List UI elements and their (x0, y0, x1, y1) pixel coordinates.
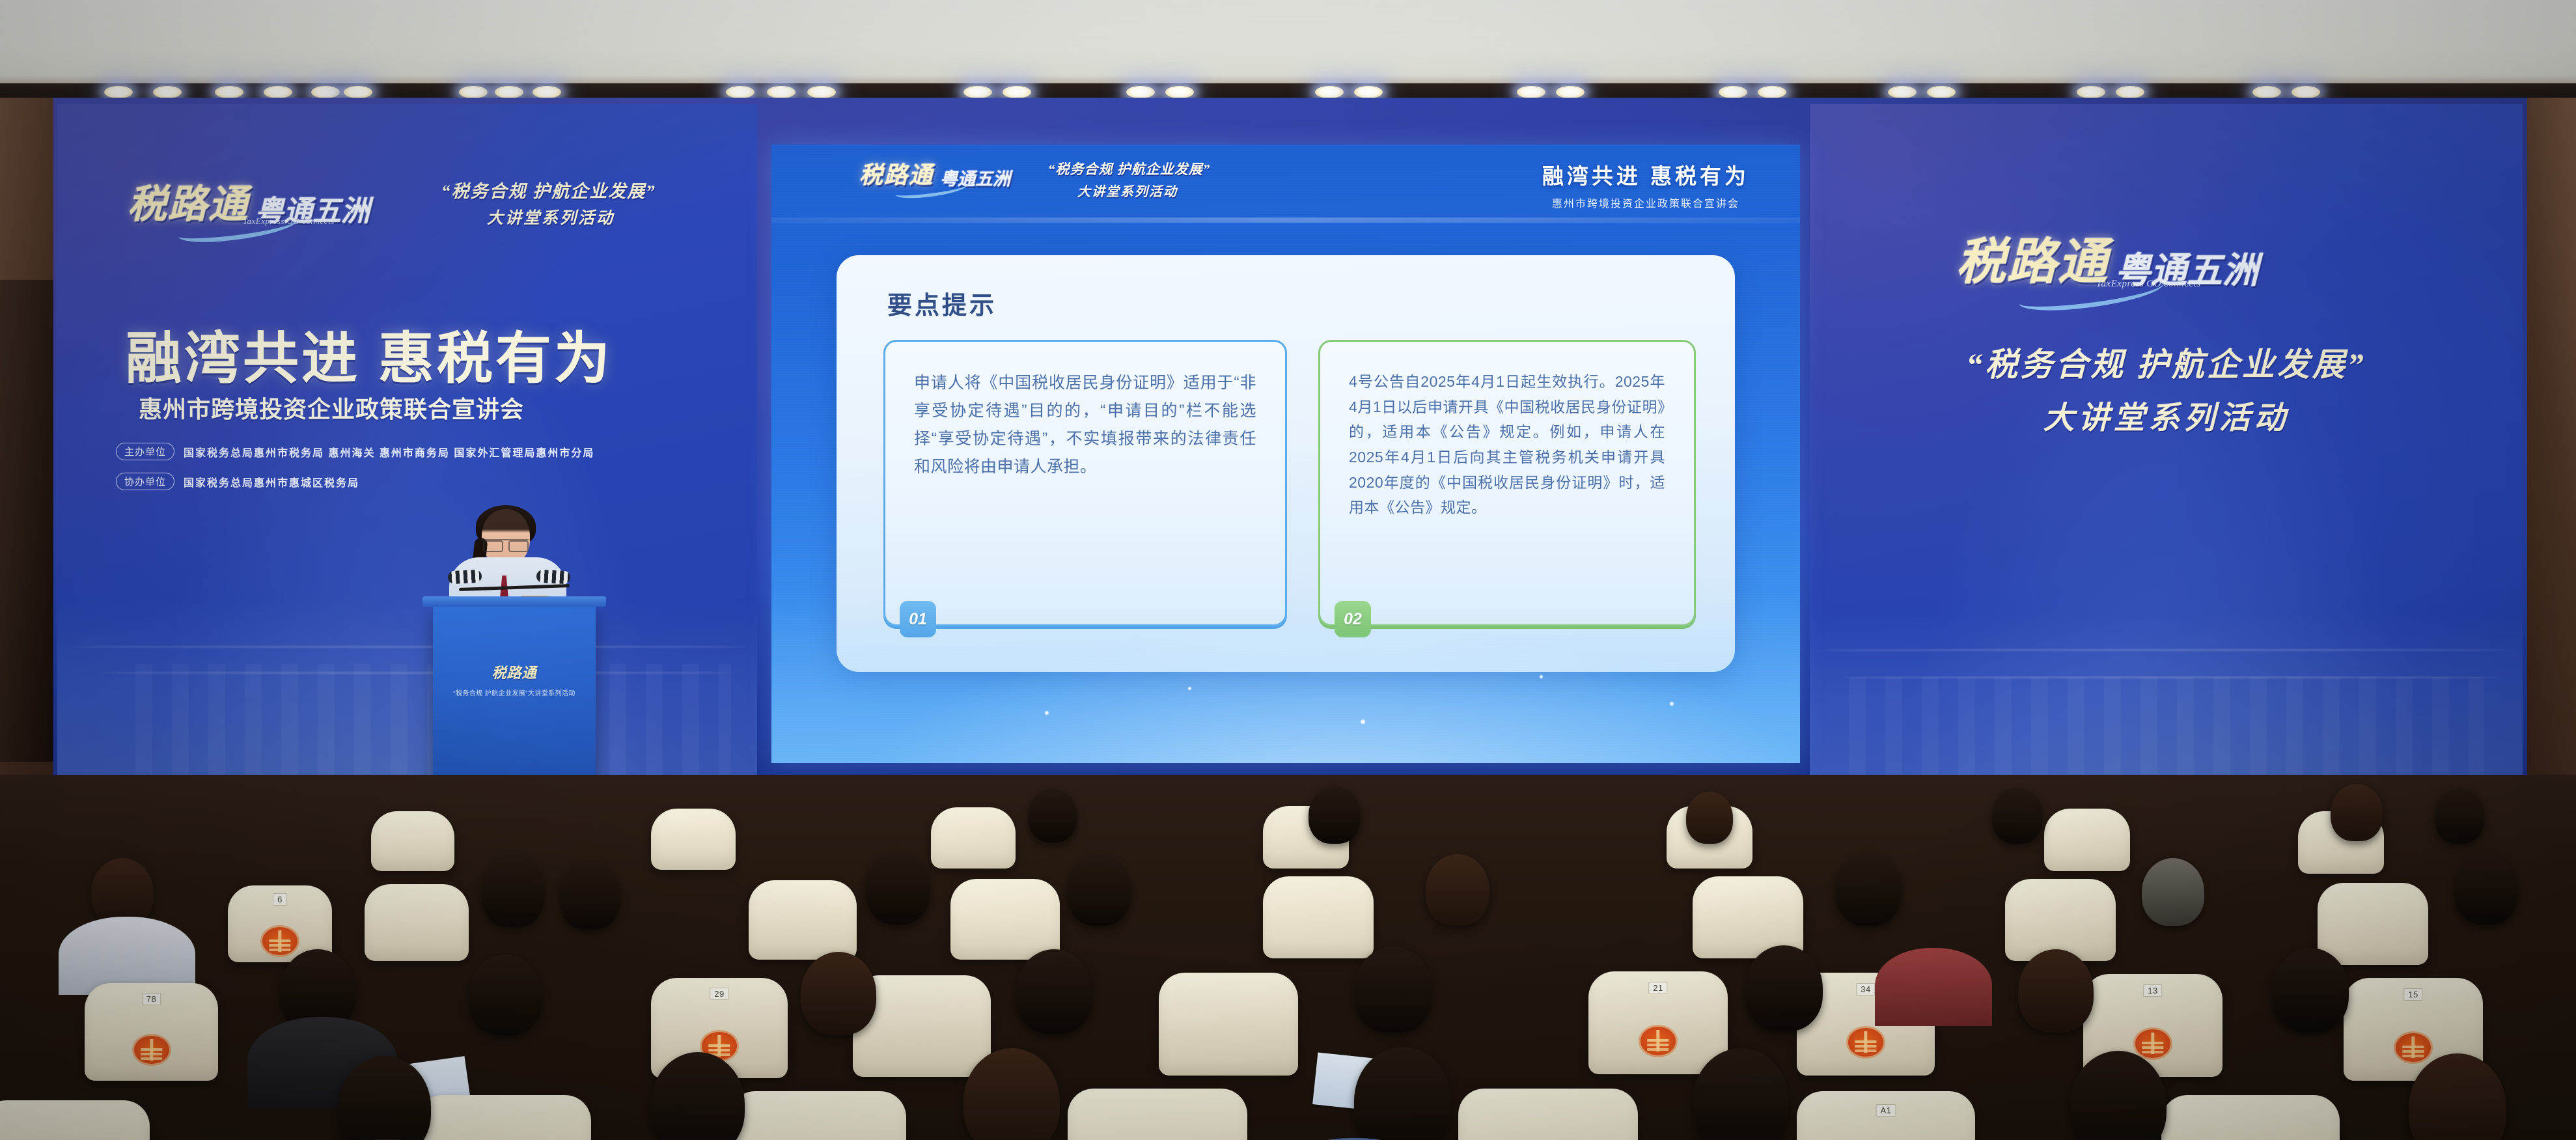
slide-sparkle (1045, 711, 1049, 715)
banner-right: 税路通 粤通五洲 TaxExpress GO connects “税务合规 护航… (1810, 104, 2523, 827)
ceiling-light (2292, 86, 2320, 98)
audience-head (1686, 792, 1733, 844)
ceiling-light (1719, 86, 1747, 98)
ceiling-light (344, 86, 372, 98)
podium-subtext: “税务合规 护航企业发展”大讲堂系列活动 (433, 688, 596, 697)
seat-number: 29 (710, 988, 728, 1000)
banner-left-slogan-line1: “税务合规 护航企业发展” (441, 177, 656, 202)
wave-line (70, 646, 747, 648)
audience-head (1745, 945, 1823, 1031)
speaker-glasses-icon (483, 539, 529, 549)
podium-desktop (422, 596, 606, 607)
ceiling-light (2077, 86, 2105, 98)
slide-header-subtitle: 惠州市跨境投资企业政策联合宣讲会 (1542, 195, 1749, 210)
chair-emblem-icon (262, 927, 298, 955)
audience-head (801, 952, 876, 1035)
banner-left: 税路通 粤通五洲 TaxExpress GO connects “税务合规 护航… (57, 104, 757, 814)
slide-content-card: 要点提示 申请人将《中国税收居民身份证明》适用于“非享受协定待遇”目的的，“申请… (837, 255, 1735, 672)
audience-head (2454, 853, 2518, 925)
audience-head (560, 862, 620, 930)
chair (2318, 883, 2428, 965)
ceiling-light (1517, 86, 1545, 98)
brand-logo-en: TaxExpress GO connects (2096, 279, 2201, 290)
chair (1068, 1089, 1247, 1140)
chair (651, 809, 736, 870)
chair (950, 879, 1060, 960)
podium-logo-cn: 税路通 (492, 665, 536, 681)
chair-emblem-icon (1641, 1027, 1676, 1055)
audience-shoulders (1875, 948, 1992, 1026)
ceiling-light (2116, 86, 2144, 98)
wave-line (1816, 649, 2513, 651)
podium-logo: 税路通 (433, 661, 596, 682)
audience-head (469, 954, 542, 1035)
chair (365, 884, 469, 961)
key-point-box-2: 4号公告自2025年4月1日起生效执行。2025年4月1日以后申请开具《中国税收… (1318, 340, 1696, 626)
organizer-row-main: 主办单位 国家税务总局惠州市税务局 惠州海关 惠州市商务局 国家外汇管理局惠州市… (116, 443, 594, 460)
key-point-badge-1: 01 (900, 601, 936, 637)
audience-head (1354, 947, 1432, 1033)
chair (1159, 973, 1298, 1076)
audience-head (1016, 949, 1092, 1034)
chair (2005, 879, 2116, 961)
ceiling-light (1354, 86, 1383, 98)
audience-head (2331, 784, 2383, 841)
audience-head (1309, 786, 1361, 844)
audience-head (2142, 858, 2204, 926)
seat-number: 15 (2403, 988, 2422, 1001)
audience-head (866, 853, 930, 925)
chair (931, 807, 1016, 869)
key-point-text-1: 申请人将《中国税收居民身份证明》适用于“非享受协定待遇”目的的，“申请目的”栏不… (914, 369, 1256, 481)
ceiling-light (1888, 86, 1917, 98)
audience-seating: 6 78 29 21 (0, 775, 2576, 1140)
chair-emblem-icon (2396, 1033, 2431, 1061)
chair-emblem-icon (2135, 1029, 2170, 1057)
seat-number: 21 (1648, 982, 1667, 994)
chair: A1 (1797, 1091, 1975, 1140)
slide-sparkle (1188, 687, 1191, 690)
door-left (0, 280, 60, 762)
audience-head (2018, 949, 2094, 1033)
ceiling-light (104, 86, 133, 98)
chair-emblem-icon (1848, 1028, 1883, 1056)
organizer-row-co: 协办单位 国家税务总局惠州市惠城区税务局 (116, 473, 359, 490)
key-point-text-2: 4号公告自2025年4月1日起生效执行。2025年4月1日以后申请开具《中国税收… (1349, 369, 1665, 520)
chair: 21 (1588, 971, 1728, 1074)
seat-number: 78 (142, 993, 161, 1005)
ceiling-light (1165, 86, 1194, 98)
organizer-names-main: 国家税务总局惠州市税务局 惠州海关 惠州市商务局 国家外汇管理局惠州市分局 (184, 444, 594, 460)
ceiling-light (495, 86, 523, 98)
seat-number: 6 (273, 893, 287, 906)
chair (0, 1100, 150, 1140)
brand-logo-en: TaxExpress GO connects (243, 216, 335, 227)
speaker-epaulet-left (448, 570, 482, 585)
audience-head (2435, 789, 2484, 844)
wave-line (96, 672, 734, 674)
chair: 78 (85, 983, 218, 1081)
key-point-badge-2: 02 (1335, 601, 1371, 637)
organizer-names-co: 国家税务总局惠州市惠城区税务局 (184, 474, 359, 490)
chair (729, 1091, 906, 1140)
audience-head (2272, 948, 2349, 1033)
banner-left-headline: 融湾共进 惠税有为 (126, 313, 613, 394)
seat-number: 34 (1856, 983, 1875, 995)
seat-number: 13 (2143, 984, 2162, 997)
ceiling-light (1758, 86, 1786, 98)
ceiling-light (767, 86, 796, 98)
ceiling-light (533, 86, 561, 98)
organizer-pill-main: 主办单位 (116, 443, 174, 460)
slide-title: 要点提示 (887, 285, 997, 321)
chair (1458, 1089, 1638, 1140)
ceiling-light (726, 86, 755, 98)
conference-photo-scene: 税路通 粤通五洲 TaxExpress GO connects “税务合规 护航… (0, 0, 2576, 1140)
slide-header-title: 融湾共进 惠税有为 (1542, 159, 1749, 190)
ceiling-light (311, 86, 340, 98)
ceiling-light (1003, 86, 1031, 98)
slide-sparkle (1361, 719, 1365, 724)
ceiling-light (1927, 86, 1956, 98)
ceiling-light (807, 86, 836, 98)
chair (417, 1095, 591, 1140)
audience-head (1426, 854, 1489, 926)
banner-right-slogan-line2: 大讲堂系列活动 (1810, 392, 2523, 438)
audience-head (482, 857, 544, 927)
led-presentation-screen[interactable]: 税路通 粤通五洲 “税务合规 护航企业发展” 大讲堂系列活动 融湾共进 惠税有为… (771, 145, 1800, 763)
chair (1263, 876, 1374, 958)
slide-header: 税路通 粤通五洲 “税务合规 护航企业发展” 大讲堂系列活动 融湾共进 惠税有为… (771, 145, 1800, 217)
audience-head (1992, 788, 2043, 844)
organizer-pill-co: 协办单位 (116, 473, 174, 490)
banner-left-slogan-line2: 大讲堂系列活动 (487, 205, 615, 229)
banner-left-subhead: 惠州市跨境投资企业政策联合宣讲会 (139, 391, 524, 424)
chair (2044, 809, 2130, 871)
slide-slogan-line1: “税务合规 护航企业发展” (1048, 159, 1210, 178)
key-point-box-1: 申请人将《中国税收居民身份证明》适用于“非享受协定待遇”目的的，“申请目的”栏不… (883, 340, 1287, 626)
speaker-epaulet-right (536, 570, 571, 585)
slide-sparkle (1540, 675, 1543, 678)
audience-head (1029, 789, 1077, 842)
slide-slogan-line2: 大讲堂系列活动 (1077, 181, 1178, 200)
podium: 税路通 “税务合规 护航企业发展”大讲堂系列活动 (433, 605, 596, 791)
ceiling-light (1556, 86, 1585, 98)
chair (2161, 1095, 2340, 1140)
banner-right-slogan-line1: “税务合规 护航企业发展” (1810, 339, 2523, 385)
audience-head (1836, 853, 1901, 926)
slide-header-right: 融湾共进 惠税有为 惠州市跨境投资企业政策联合宣讲会 (1542, 159, 1749, 210)
audience-head (1068, 857, 1130, 926)
ceiling-light (2252, 86, 2281, 98)
ceiling-light (153, 86, 182, 98)
ceiling-light (1315, 86, 1344, 98)
slide-header-divider (771, 217, 1800, 223)
chair (749, 880, 857, 960)
ceiling-light (1126, 86, 1155, 98)
ceiling-light (264, 86, 292, 98)
ceiling-light (459, 86, 488, 98)
chair (371, 811, 454, 871)
ceiling-light (215, 86, 243, 98)
ceiling-light (963, 86, 992, 98)
chair-emblem-icon (134, 1036, 169, 1064)
seat-number: A1 (1876, 1104, 1896, 1117)
slide-sparkle (1670, 702, 1674, 706)
wave-line (1842, 676, 2500, 678)
